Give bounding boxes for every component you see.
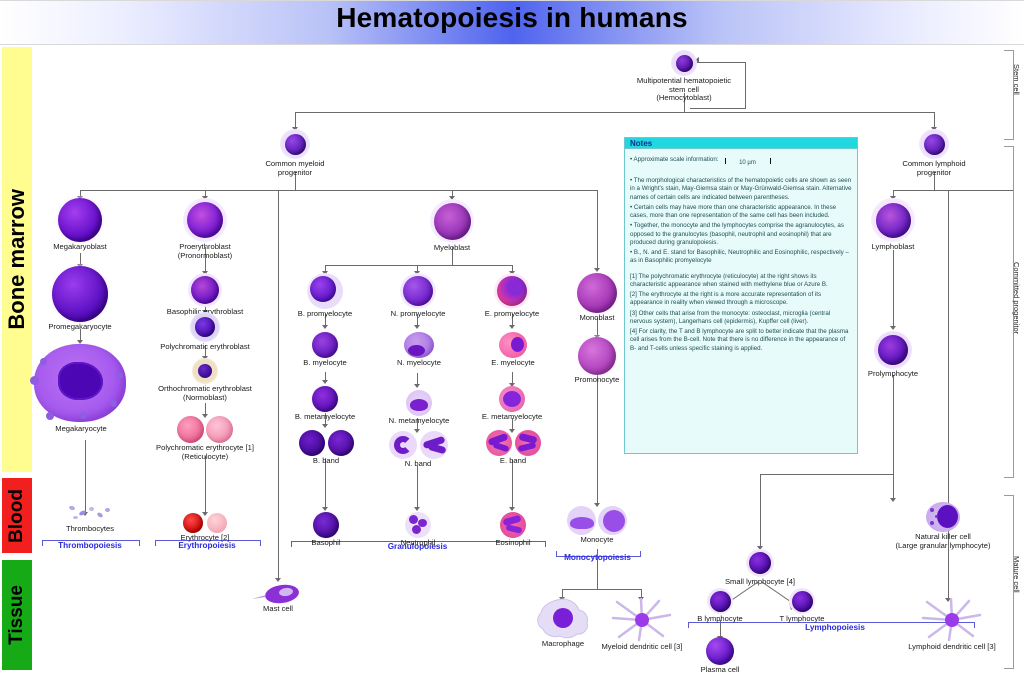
cell-e-metamyelocyte[interactable]: E. metamyelocyte — [465, 386, 559, 422]
connector-cmp-to-monoblast — [597, 190, 598, 270]
cell-polychromatic-erythrocyte-label: Polychromatic erythrocyte [1] (Reticuloc… — [135, 444, 275, 461]
basophilic-erythroblast-icon — [188, 273, 222, 307]
cell-small-lymphocyte-label: Small lymphocyte [4] — [715, 578, 805, 587]
connector-lymph-fan — [760, 474, 893, 475]
connector-cmp-fan — [80, 190, 479, 191]
connector-eband-eosinophil — [512, 460, 513, 510]
connector-clp-fan — [893, 190, 1013, 191]
e-promyelocyte-icon — [494, 273, 530, 309]
notes-scale-value: 10 µm — [725, 160, 771, 168]
connector-hsc-selfrenew-right — [745, 62, 746, 109]
cell-thrombocytes-label: Thrombocytes — [45, 525, 135, 534]
cell-e-myelocyte[interactable]: E. myelocyte — [482, 332, 544, 368]
cell-hsc-label: Multipotential hematopoietic stem cell (… — [634, 77, 734, 103]
n-band-icon-2 — [420, 431, 448, 459]
common-myeloid-progenitor-icon — [280, 129, 310, 159]
connector-cmp-to-mast — [278, 190, 279, 580]
cell-erythrocyte-label: Erythrocyte [2] — [160, 534, 250, 543]
hsc-icon — [671, 50, 697, 76]
t-lymphocyte-icon — [789, 588, 815, 614]
cell-promonocyte[interactable]: Promonocyte — [564, 337, 630, 385]
pathway-label-monocytopoiesis: Monocytopoiesis — [548, 553, 647, 562]
cell-neutrophil[interactable]: Neutrophil — [388, 512, 448, 548]
cell-hsc-glyph-row — [634, 50, 734, 76]
plasma-cell-icon — [706, 637, 734, 665]
cell-monoblast[interactable]: Monoblast — [567, 273, 627, 323]
cell-polychromatic-erythroblast[interactable]: Polychromatic erythroblast — [140, 312, 270, 352]
connector-prolymphocyte-down — [893, 375, 894, 474]
megakaryocyte-nucleus — [58, 362, 103, 400]
cell-b-promyelocyte-label: B. promyelocyte — [285, 310, 365, 319]
notes-footnote-3: [3] Other cells that arise from the mono… — [630, 310, 852, 327]
cell-t-lymphocyte[interactable]: T lymphocyte — [767, 588, 837, 624]
cell-hsc[interactable]: Multipotential hematopoietic stem cell (… — [634, 50, 734, 103]
connector-promonocyte-monocyte — [597, 375, 598, 506]
cell-myeloid-dendritic-label: Myeloid dendritic cell [3] — [592, 643, 692, 652]
monocyte-icon-2 — [598, 506, 627, 535]
lymphoblast-icon — [871, 198, 915, 242]
cell-prolymphocyte-label: Prolymphocyte — [858, 370, 928, 379]
polychromatic-erythrocyte-icon-2 — [206, 416, 233, 443]
notes-body: Approximate scale information: 10 µm The… — [625, 149, 857, 353]
cell-n-promyelocyte[interactable]: N. promyelocyte — [378, 273, 458, 319]
mast-cell-icon — [250, 582, 306, 604]
arrow-bmyelo-bmeta — [322, 380, 328, 384]
cell-b-lymphocyte-label: B lymphocyte — [685, 615, 755, 624]
cell-proerythroblast-label: Proerythroblast (Pronormoblast) — [155, 243, 255, 260]
polychromatic-erythroblast-icon — [190, 312, 220, 342]
n-band-icon-1 — [389, 431, 417, 459]
arrow-to-monoblast — [594, 268, 600, 272]
cell-megakaryocyte-label: Megakaryocyte — [16, 425, 146, 434]
cell-proerythroblast[interactable]: Proerythroblast (Pronormoblast) — [155, 198, 255, 260]
polychromatic-erythrocyte-icon-1 — [177, 416, 204, 443]
notes-footnote-4: [4] For clarity, the T and B lymphocyte … — [630, 328, 852, 353]
arrow-epro-emyelo — [509, 325, 515, 329]
stage-label-stem-cell: Stem cell — [1012, 64, 1021, 95]
cell-b-promyelocyte[interactable]: B. promyelocyte — [285, 273, 365, 319]
compartment-label-tissue: Tissue — [6, 585, 28, 645]
connector-bband-basophil — [325, 458, 326, 510]
cell-b-lymphocyte[interactable]: B lymphocyte — [685, 588, 755, 624]
cell-promegakaryocyte[interactable]: Promegakaryocyte — [25, 266, 135, 332]
arrow-lymphoblast-prolymphocyte — [890, 326, 896, 330]
notes-footnote-1: [1] The polychromatic erythrocyte (retic… — [630, 273, 852, 290]
notes-box: Notes Approximate scale information: 10 … — [624, 137, 858, 454]
cell-megakaryoblast[interactable]: Megakaryoblast — [30, 198, 130, 252]
cell-mast[interactable]: Mast cell — [243, 582, 313, 614]
cell-eosinophil-label: Eosinophil — [483, 539, 543, 548]
n-promyelocyte-icon — [400, 273, 436, 309]
cell-basophilic-erythroblast[interactable]: Basophilic erythroblast — [145, 273, 265, 317]
cell-erythrocyte[interactable]: Erythrocyte [2] — [160, 513, 250, 543]
cell-macrophage[interactable]: Macrophage — [525, 597, 601, 649]
connector-lymphoblast-prolymphocyte — [893, 250, 894, 329]
promonocyte-icon — [578, 337, 616, 375]
cell-n-band-label: N. band — [382, 460, 454, 469]
cell-monoblast-label: Monoblast — [567, 314, 627, 323]
cell-clp[interactable]: Common lymphoid progenitor — [889, 129, 979, 177]
cell-e-band[interactable]: E. band — [479, 430, 547, 466]
cell-b-myelocyte-label: B. myelocyte — [288, 359, 362, 368]
cell-b-myelocyte[interactable]: B. myelocyte — [288, 332, 362, 368]
cell-n-band[interactable]: N. band — [382, 431, 454, 469]
cell-prolymphocyte[interactable]: Prolymphocyte — [858, 331, 928, 379]
cell-b-metamyelocyte-label: B. metamyelocyte — [278, 413, 372, 422]
cell-neutrophil-label: Neutrophil — [388, 539, 448, 548]
compartment-tissue: Tissue — [2, 560, 32, 670]
b-band-icon-2 — [328, 430, 354, 456]
megakaryoblast-icon — [58, 198, 102, 242]
cell-lymphoid-dendritic-label: Lymphoid dendritic cell [3] — [900, 643, 1004, 652]
natural-killer-cell-icon — [926, 502, 960, 532]
cell-eosinophil[interactable]: Eosinophil — [483, 512, 543, 548]
arrow-nmyelo-nmeta — [414, 384, 420, 388]
erythrocyte-icon-2 — [207, 513, 227, 533]
cell-orthochromatic-erythroblast-label: Orthochromatic erythroblast (Normoblast) — [138, 385, 272, 402]
macrophage-icon — [533, 597, 593, 639]
orthochromatic-erythroblast-icon — [192, 358, 218, 384]
cell-t-lymphocyte-label: T lymphocyte — [767, 615, 837, 624]
connector-myeloblast-fan — [325, 265, 513, 266]
cell-megakaryoblast-label: Megakaryoblast — [30, 243, 130, 252]
cell-monocyte-label: Monocyte — [562, 536, 632, 545]
connector-megakaryocyte-thrombocytes — [85, 440, 86, 515]
cell-basophil[interactable]: Basophil — [296, 512, 356, 548]
cell-orthochromatic-erythroblast[interactable]: Orthochromatic erythroblast (Normoblast) — [138, 358, 272, 402]
cell-polychromatic-erythrocyte[interactable]: Polychromatic erythrocyte [1] (Reticuloc… — [135, 416, 275, 461]
cell-thrombocytes[interactable]: Thrombocytes — [45, 506, 135, 534]
cell-myeloid-dendritic[interactable]: Myeloid dendritic cell [3] — [592, 598, 692, 652]
cell-clp-label: Common lymphoid progenitor — [889, 160, 979, 177]
cell-b-band[interactable]: B. band — [292, 430, 360, 466]
cell-plasma[interactable]: Plasma cell — [690, 637, 750, 675]
cell-macrophage-label: Macrophage — [525, 640, 601, 649]
cell-small-lymphocyte[interactable]: Small lymphocyte [4] — [715, 549, 805, 587]
cell-e-metamyelocyte-label: E. metamyelocyte — [465, 413, 559, 422]
notes-bullet-4: B., N. and E. stand for Basophilic, Neut… — [630, 249, 852, 266]
connector-hsc-selfrenew-bottom — [690, 108, 746, 109]
b-myelocyte-icon — [312, 332, 338, 358]
cell-monocyte[interactable]: Monocyte — [562, 506, 632, 545]
neutrophil-icon — [405, 512, 431, 538]
scale-bar-icon: 10 µm — [725, 152, 771, 168]
notes-scale-row: Approximate scale information: 10 µm — [630, 152, 852, 168]
arrow-npro-nmyelo — [414, 325, 420, 329]
notes-bullet-3: Together, the monocyte and the lymphocyt… — [630, 222, 852, 247]
thrombocytes-icon — [68, 505, 75, 511]
cell-nk[interactable]: Natural killer cell (Large granular lymp… — [860, 502, 1024, 550]
cell-nk-label: Natural killer cell (Large granular lymp… — [860, 533, 1024, 550]
cell-cmp[interactable]: Common myeloid progenitor — [250, 129, 340, 177]
b-metamyelocyte-icon — [312, 386, 338, 412]
cell-lymphoid-dendritic[interactable]: Lymphoid dendritic cell [3] — [900, 598, 1004, 652]
connector-cmp-clp-split — [295, 112, 935, 113]
e-metamyelocyte-icon — [499, 386, 525, 412]
connector-to-nk-cell — [893, 474, 894, 500]
cell-n-promyelocyte-label: N. promyelocyte — [378, 310, 458, 319]
prolymphocyte-icon — [874, 331, 912, 369]
connector-monocyte-fan — [562, 589, 642, 590]
cell-e-promyelocyte[interactable]: E. promyelocyte — [472, 273, 552, 319]
cell-e-band-label: E. band — [479, 457, 547, 466]
cell-n-metamyelocyte[interactable]: N. metamyelocyte — [372, 390, 466, 426]
notes-bullet-1: The morphological characteristics of the… — [630, 177, 852, 202]
cell-b-metamyelocyte[interactable]: B. metamyelocyte — [278, 386, 372, 422]
monoblast-icon — [577, 273, 617, 313]
notes-footnote-2: [2] The erythrocyte at the right is a mo… — [630, 291, 852, 308]
n-myelocyte-icon — [404, 332, 434, 358]
cell-lymphoblast-label: Lymphoblast — [858, 243, 928, 252]
erythrocyte-icon-1 — [183, 513, 203, 533]
b-band-icon-1 — [299, 430, 325, 456]
cell-myeloblast-label: Myeloblast — [412, 244, 492, 253]
myeloid-dendritic-cell-icon — [611, 598, 673, 642]
arrow-bband-basophil — [322, 507, 328, 511]
cell-promegakaryocyte-label: Promegakaryocyte — [25, 323, 135, 332]
notes-scale-label: Approximate scale information: — [630, 156, 719, 164]
cell-n-myelocyte[interactable]: N. myelocyte — [388, 332, 450, 368]
compartment-label-blood: Blood — [6, 489, 28, 543]
connector-cmp-fan-right — [452, 190, 598, 191]
notes-header: Notes — [625, 138, 857, 149]
e-band-icon-1 — [486, 430, 512, 456]
compartment-blood: Blood — [2, 478, 32, 553]
cell-myeloblast[interactable]: Myeloblast — [412, 199, 492, 253]
b-promyelocyte-icon — [307, 273, 343, 309]
cell-megakaryocyte[interactable]: Megakaryocyte — [16, 342, 146, 434]
cell-b-band-label: B. band — [292, 457, 360, 466]
notes-bullet-2: Certain cells may have more than one cha… — [630, 204, 852, 221]
cell-plasma-label: Plasma cell — [690, 666, 750, 675]
pathway-label-lymphopoiesis: Lymphopoiesis — [760, 623, 910, 632]
cell-basophil-label: Basophil — [296, 539, 356, 548]
monocyte-icon-1 — [567, 506, 596, 535]
myeloblast-icon — [430, 199, 474, 243]
stage-label-committed-progenitor: Committed progenitor — [1012, 262, 1021, 334]
cell-e-myelocyte-label: E. myelocyte — [482, 359, 544, 368]
cell-promonocyte-label: Promonocyte — [564, 376, 630, 385]
e-myelocyte-icon — [499, 332, 527, 358]
promegakaryocyte-icon — [52, 266, 108, 322]
proerythroblast-icon — [183, 198, 227, 242]
connector-to-small-lymphocyte — [760, 474, 761, 548]
cell-cmp-label: Common myeloid progenitor — [250, 160, 340, 177]
small-lymphocyte-icon — [746, 549, 774, 577]
pathway-label-thrombopoiesis: Thrombopoiesis — [42, 541, 138, 550]
arrow-bmeta-bband — [322, 424, 328, 428]
stage-label-mature-cell: Mature cell — [1012, 556, 1021, 593]
connector-nband-neutrophil — [417, 466, 418, 510]
cell-polychromatic-erythroblast-label: Polychromatic erythroblast — [140, 343, 270, 352]
cell-n-metamyelocyte-label: N. metamyelocyte — [372, 417, 466, 426]
eosinophil-icon — [500, 512, 526, 538]
common-lymphoid-progenitor-icon — [919, 129, 949, 159]
n-metamyelocyte-icon — [406, 390, 432, 416]
b-lymphocyte-icon — [707, 588, 733, 614]
connector-clp-fan-r — [934, 190, 948, 191]
e-band-icon-2 — [515, 430, 541, 456]
arrow-eband-eosinophil — [509, 507, 515, 511]
connector-polyerythrocyte-erythrocyte — [205, 456, 206, 515]
cell-n-myelocyte-label: N. myelocyte — [388, 359, 450, 368]
cell-lymphoblast[interactable]: Lymphoblast — [858, 198, 928, 252]
arrow-nband-neutrophil — [414, 507, 420, 511]
lymphoid-dendritic-cell-icon — [921, 598, 983, 642]
basophil-icon — [313, 512, 339, 538]
arrow-bpro-bmyelo — [322, 325, 328, 329]
cell-e-promyelocyte-label: E. promyelocyte — [472, 310, 552, 319]
page-title: Hematopoiesis in humans — [0, 2, 1024, 34]
cell-mast-label: Mast cell — [243, 605, 313, 614]
